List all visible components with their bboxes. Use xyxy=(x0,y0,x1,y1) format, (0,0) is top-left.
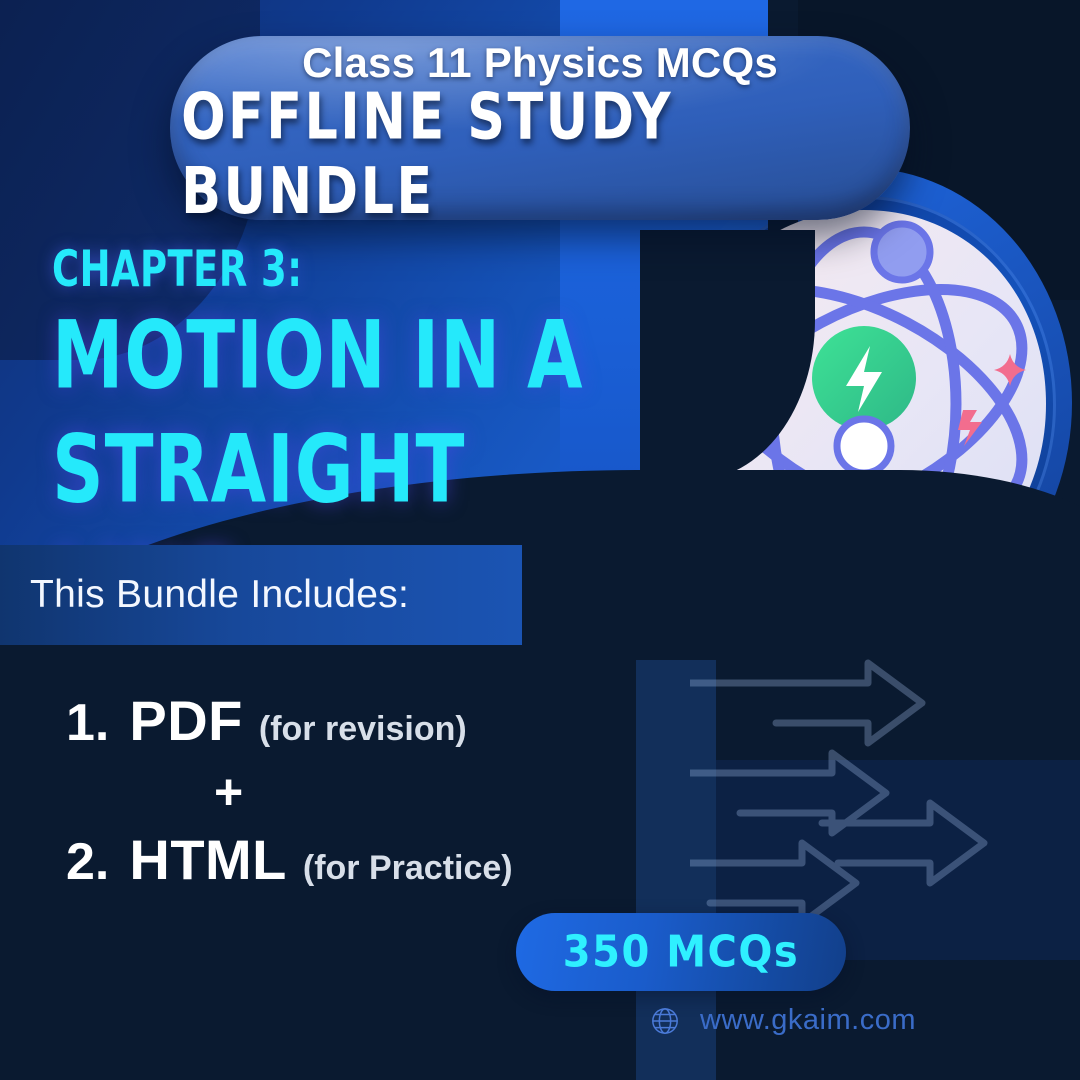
bundle-banner: This Bundle Includes: xyxy=(0,545,522,645)
list-item-note: (for revision) xyxy=(259,710,467,749)
header-title: OFFLINE STUDY BUNDLE xyxy=(181,80,899,229)
right-arrows-decoration xyxy=(690,655,1020,925)
mcq-count-badge: 350 MCQs xyxy=(516,913,846,991)
list-item: 2. HTML (for Practice) xyxy=(66,827,686,892)
chapter-label: CHAPTER 3: xyxy=(52,240,302,298)
list-item-number: 1. xyxy=(66,693,109,753)
footer-url: www.gkaim.com xyxy=(700,1004,916,1037)
electron-top xyxy=(874,224,930,280)
header-pill: Class 11 Physics MCQs OFFLINE STUDY BUND… xyxy=(170,36,910,220)
poster-canvas: Class 11 Physics MCQs OFFLINE STUDY BUND… xyxy=(0,0,1080,1080)
list-item-name: HTML xyxy=(129,827,287,892)
bundle-banner-label: This Bundle Includes: xyxy=(30,573,409,617)
list-item-number: 2. xyxy=(66,832,109,892)
list-item: 1. PDF (for revision) xyxy=(66,688,686,753)
footer: www.gkaim.com xyxy=(650,1004,916,1037)
list-item-note: (for Practice) xyxy=(303,849,513,888)
mcq-count-label: 350 MCQs xyxy=(563,927,799,978)
list-item-name: PDF xyxy=(129,688,243,753)
plus-separator: + xyxy=(214,763,686,821)
bundle-item-list: 1. PDF (for revision) + 2. HTML (for Pra… xyxy=(66,688,686,892)
chapter-title-line-1: MOTION IN A xyxy=(52,300,604,414)
globe-icon xyxy=(650,1006,680,1036)
